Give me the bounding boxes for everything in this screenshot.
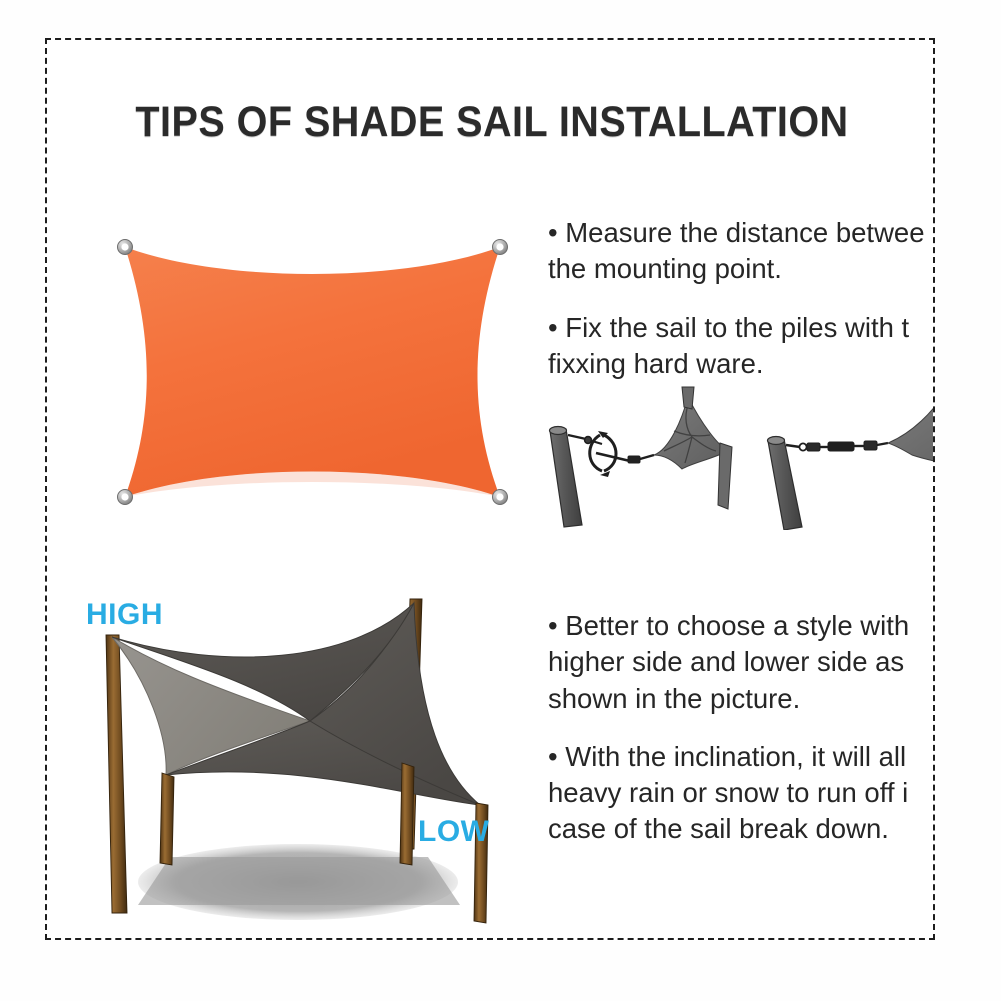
label-low: LOW (418, 815, 489, 849)
hardware-detail-left-illustration (542, 385, 757, 530)
tip-spacer-bottom (548, 717, 909, 739)
tip-measure-line-2: the mounting point. (548, 251, 925, 287)
sail-corner-right (888, 385, 935, 467)
tips-list-bottom: • Better to choose a style with higher s… (548, 608, 909, 848)
support-post-top (682, 387, 694, 409)
post-low-front-left (160, 773, 174, 865)
hardware-detail-right-illustration (762, 385, 935, 530)
tip-measure-line-1: • Measure the distance betwee (548, 215, 925, 251)
tip-inclination-line-3: case of the sail break down. (548, 811, 909, 847)
tips-list-top: • Measure the distance betwee the mounti… (548, 215, 925, 382)
sail-fabric (125, 247, 500, 497)
page-title: TIPS OF SHADE SAIL INSTALLATION (83, 98, 902, 147)
support-post-right (718, 443, 732, 509)
tip-inclination-line-2: heavy rain or snow to run off i (548, 775, 909, 811)
tip-fix-line-2: fixxing hard ware. (548, 346, 925, 382)
hardware-right-svg (762, 385, 935, 530)
post-high-left (106, 635, 127, 913)
tip-inclination-line-1: • With the inclination, it will all (548, 739, 909, 775)
orange-sail-svg (102, 225, 522, 525)
label-high: HIGH (86, 598, 163, 632)
orange-shade-sail-illustration (102, 225, 522, 525)
sail-corner-left (654, 387, 732, 509)
fixing-hardware-chain-left (568, 431, 654, 477)
poster-root: TIPS OF SHADE SAIL INSTALLATION (0, 0, 1001, 1001)
mounting-post-left (550, 427, 583, 528)
mounting-post-right (768, 437, 803, 531)
tip-style-line-3: shown in the picture. (548, 681, 909, 717)
hardware-left-svg (542, 385, 757, 530)
post-low-front-right (400, 763, 414, 865)
dashed-content-frame: TIPS OF SHADE SAIL INSTALLATION (45, 38, 935, 940)
tip-spacer (548, 288, 925, 310)
tip-style-line-1: • Better to choose a style with (548, 608, 909, 644)
tip-fix-line-1: • Fix the sail to the piles with t (548, 310, 925, 346)
tip-style-line-2: higher side and lower side as (548, 644, 909, 680)
fixing-hardware-chain-right (786, 441, 888, 451)
